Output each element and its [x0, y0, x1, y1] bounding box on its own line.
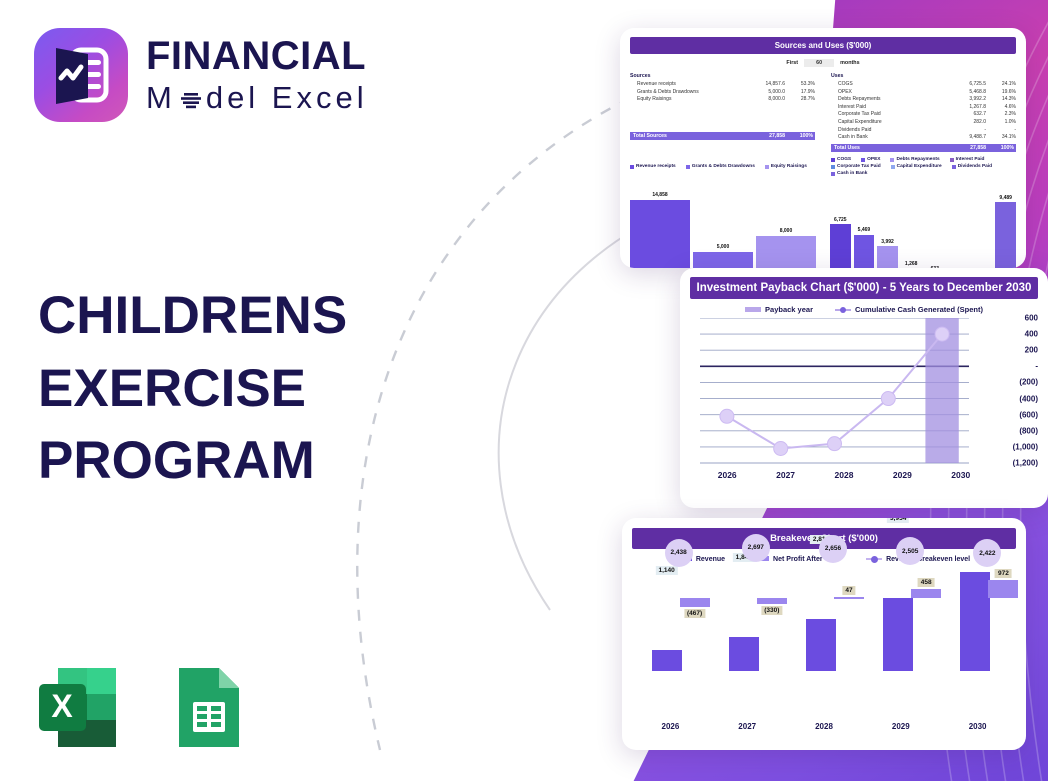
sources-bar-chart: 14,8585,0008,000: [630, 182, 816, 268]
bar: [630, 200, 690, 268]
payback-line-chart: [694, 318, 1014, 466]
legend-item: Debts Repayments: [890, 157, 939, 162]
row-label: Interest Paid: [831, 104, 944, 112]
table-row: Interest Paid1,267.84.6%: [831, 104, 1016, 112]
payback-title: Investment Payback Chart ($'000) - 5 Yea…: [690, 277, 1038, 299]
page-title-line-3: PROGRAM: [38, 425, 418, 498]
row-label: Debts Repayments: [831, 96, 944, 104]
total-uses-label: Total Uses: [831, 144, 944, 153]
legend-item: OPEX: [861, 157, 880, 162]
row-pct: 14.3%: [986, 96, 1016, 104]
legend-label: OPEX: [867, 157, 880, 162]
bar-column: 3,992: [877, 182, 898, 268]
row-pct: -: [986, 127, 1016, 135]
sources-uses-title: Sources and Uses ($'000): [630, 37, 1016, 54]
payback-x-axis: 20262027202820292030: [698, 470, 990, 480]
breakeven-plot-area: 1,140(467)1,848(330)2,814473,9544585,316…: [640, 567, 1008, 702]
bar-column: 8,000: [756, 182, 816, 268]
period-prefix-label: First: [786, 60, 798, 66]
bar-column: 5,469: [854, 182, 875, 268]
row-pct: 53.3%: [785, 81, 815, 89]
y-tick-label: (800): [1019, 426, 1038, 435]
bar: [995, 202, 1016, 268]
y-tick-label: 200: [1025, 346, 1038, 355]
bar-column: 14,858: [630, 182, 690, 268]
legend-item: Capital Expenditure: [891, 164, 942, 169]
legend-item: Cash in Bank: [831, 171, 867, 176]
legend-label: COGS: [837, 157, 851, 162]
period-selector[interactable]: First 60 months: [630, 59, 1016, 67]
row-value: 14,857.6: [743, 81, 785, 89]
row-label: Revenue receipts: [630, 81, 743, 89]
sources-header: Sources: [630, 73, 815, 79]
total-uses-value: 27,858: [944, 144, 986, 153]
bar-value-label: 1,268: [905, 261, 918, 267]
row-value: 5,468.8: [944, 89, 986, 97]
legend-label: Revenue receipts: [636, 164, 676, 169]
y-tick-label: (1,000): [1013, 442, 1038, 451]
breakeven-line: [640, 567, 1026, 702]
bar-column: 0: [972, 182, 993, 268]
legend-item: Interest Paid: [950, 157, 985, 162]
microsoft-excel-icon: X: [30, 660, 125, 755]
row-pct: 2.3%: [986, 111, 1016, 119]
row-label: COGS: [831, 81, 944, 89]
breakeven-value-bubble: 2,505: [896, 537, 924, 565]
bar: [854, 235, 875, 269]
bar-column: 5,000: [693, 182, 753, 268]
brand-subtitle: M del Excel: [146, 79, 368, 118]
x-tick-label: 2029: [892, 722, 910, 731]
payback-plot-area: 600400200-(200)(400)(600)(800)(1,000)(1,…: [694, 318, 1038, 480]
table-row: OPEX5,468.819.6%: [831, 89, 1016, 97]
y-tick-label: (600): [1019, 410, 1038, 419]
legend-cumulative-cash: Cumulative Cash Generated (Spent): [835, 305, 983, 314]
row-label: OPEX: [831, 89, 944, 97]
uses-header: Uses: [831, 73, 1016, 79]
logo-glyph: [34, 28, 128, 122]
row-pct: 1.0%: [986, 119, 1016, 127]
legend-label: Grants & Debts Drawdowns: [692, 164, 755, 169]
total-uses-pct: 100%: [986, 144, 1016, 153]
uses-bar-chart: 6,7255,4693,9921,26863328209,489: [830, 182, 1016, 268]
page-title-line-1: CHILDRENS: [38, 280, 418, 353]
row-value: 5,000.0: [743, 89, 785, 97]
bar-column: 282: [948, 182, 969, 268]
x-tick-label: 2027: [776, 470, 795, 480]
y-tick-label: 600: [1025, 314, 1038, 323]
brand-title: FINANCIAL: [146, 36, 368, 76]
bar-column: 633: [925, 182, 946, 268]
table-row: Equity Raisings8,000.028.7%: [630, 96, 815, 104]
brand-subtitle-post: del Excel: [206, 79, 368, 118]
legend-item: COGS: [831, 157, 851, 162]
revenue-value-label: 3,954: [887, 518, 909, 523]
legend-item: Revenue receipts: [630, 157, 676, 176]
svg-text:X: X: [51, 688, 73, 724]
y-tick-label: -: [1035, 362, 1038, 371]
sources-column: Sources Revenue receipts14,857.653.3%Gra…: [630, 73, 815, 152]
bar-value-label: 8,000: [780, 228, 793, 234]
uses-column: Uses COGS6,725.524.1%OPEX5,468.819.6%Deb…: [831, 73, 1016, 152]
x-tick-label: 2026: [662, 722, 680, 731]
legend-payback-year: Payback year: [745, 305, 813, 314]
bar-stack-icon: [178, 86, 204, 112]
row-label: Grants & Debts Drawdowns: [630, 89, 743, 97]
bar-column: 9,489: [995, 182, 1016, 268]
x-tick-label: 2028: [815, 722, 833, 731]
row-value: 632.7: [944, 111, 986, 119]
x-tick-label: 2029: [893, 470, 912, 480]
period-suffix-label: months: [840, 60, 859, 66]
legend-label: Capital Expenditure: [897, 164, 942, 169]
legend-item: Dividends Paid: [952, 164, 992, 169]
bar: [693, 252, 753, 268]
row-value: 1,267.8: [944, 104, 986, 112]
total-sources-label: Total Sources: [630, 132, 743, 141]
x-tick-label: 2030: [969, 722, 987, 731]
brand-logo: FINANCIAL M del Excel: [34, 28, 368, 122]
table-row: Debts Repayments3,992.214.3%: [831, 96, 1016, 104]
y-tick-label: 400: [1025, 330, 1038, 339]
legend-item: Corporate Tax Paid: [831, 164, 881, 169]
table-row: Cash in Bank9,488.734.1%: [831, 134, 1016, 142]
row-pct: 19.6%: [986, 89, 1016, 97]
google-sheets-icon: [159, 660, 254, 755]
x-tick-label: 2030: [951, 470, 970, 480]
brand-subtitle-pre: M: [146, 79, 176, 118]
x-tick-label: 2026: [718, 470, 737, 480]
breakeven-value-bubble: 2,697: [742, 534, 770, 562]
bar-column: 6,725: [830, 182, 851, 268]
row-value: 6,725.5: [944, 81, 986, 89]
row-label: Corporate Tax Paid: [831, 111, 944, 119]
y-tick-label: (1,200): [1013, 459, 1038, 468]
legend-item: Equity Raisings: [765, 157, 807, 176]
table-row: Dividends Paid--: [831, 127, 1016, 135]
row-value: -: [944, 127, 986, 135]
row-label: Cash in Bank: [831, 134, 944, 142]
row-label: Capital Expenditure: [831, 119, 944, 127]
sources-and-uses-card: Sources and Uses ($'000) First 60 months…: [620, 28, 1026, 268]
breakeven-value-bubble: 2,438: [665, 539, 693, 567]
row-value: 9,488.7: [944, 134, 986, 142]
sources-chart-legend: Revenue receiptsGrants & Debts Drawdowns…: [630, 157, 815, 176]
legend-label: Corporate Tax Paid: [837, 164, 881, 169]
legend-label: Cash in Bank: [837, 171, 867, 176]
table-row: COGS6,725.524.1%: [831, 81, 1016, 89]
breakeven-x-axis: 20262027202820292030: [632, 722, 1016, 731]
x-tick-label: 2027: [738, 722, 756, 731]
row-label: Equity Raisings: [630, 96, 743, 104]
investment-payback-card: Investment Payback Chart ($'000) - 5 Yea…: [680, 268, 1048, 508]
y-tick-label: (200): [1019, 378, 1038, 387]
bar-value-label: 3,992: [881, 239, 894, 245]
breakeven-card: Breakeven Chart ($'000) Revenue Net Prof…: [622, 518, 1026, 750]
total-uses-row: Total Uses 27,858 100%: [831, 144, 1016, 153]
row-pct: 24.1%: [986, 81, 1016, 89]
table-row: Capital Expenditure282.01.0%: [831, 119, 1016, 127]
breakeven-value-bubble: 2,422: [973, 539, 1001, 567]
supported-apps: X: [30, 660, 254, 755]
row-pct: 17.9%: [785, 89, 815, 97]
total-sources-pct: 100%: [785, 132, 815, 141]
financial-model-logo-icon: [34, 28, 128, 122]
row-pct: 34.1%: [986, 134, 1016, 142]
table-row: Corporate Tax Paid632.72.3%: [831, 111, 1016, 119]
table-row: Revenue receipts14,857.653.3%: [630, 81, 815, 89]
payback-y-axis: 600400200-(200)(400)(600)(800)(1,000)(1,…: [994, 318, 1038, 463]
table-row: Grants & Debts Drawdowns5,000.017.9%: [630, 89, 815, 97]
x-tick-label: 2028: [835, 470, 854, 480]
row-value: 8,000.0: [743, 96, 785, 104]
breakeven-value-bubble: 2,656: [819, 535, 847, 563]
page-title-line-2: EXERCISE: [38, 353, 418, 426]
bar-value-label: 9,489: [999, 195, 1012, 201]
legend-label: Equity Raisings: [771, 164, 807, 169]
bar: [877, 246, 898, 268]
row-value: 3,992.2: [944, 96, 986, 104]
payback-legend: Payback year Cumulative Cash Generated (…: [690, 305, 1038, 314]
period-months-input[interactable]: 60: [804, 59, 834, 67]
bar-value-label: 5,000: [717, 244, 730, 250]
total-sources-row: Total Sources 27,858 100%: [630, 132, 815, 141]
y-tick-label: (400): [1019, 394, 1038, 403]
uses-chart-legend: COGSOPEXDebts RepaymentsInterest PaidCor…: [831, 157, 1016, 176]
bar-value-label: 14,858: [652, 192, 667, 198]
bar-column: 1,268: [901, 182, 922, 268]
bar-value-label: 5,469: [858, 227, 871, 233]
row-pct: 4.6%: [986, 104, 1016, 112]
bar-value-label: 6,725: [834, 217, 847, 223]
legend-item: Grants & Debts Drawdowns: [686, 157, 755, 176]
bar: [756, 236, 816, 268]
legend-label: Interest Paid: [956, 157, 985, 162]
row-label: Dividends Paid: [831, 127, 944, 135]
legend-label: Dividends Paid: [958, 164, 992, 169]
row-value: 282.0: [944, 119, 986, 127]
legend-label: Debts Repayments: [896, 157, 939, 162]
row-pct: 28.7%: [785, 96, 815, 104]
total-sources-value: 27,858: [743, 132, 785, 141]
bar: [830, 224, 851, 268]
page-title: CHILDRENS EXERCISE PROGRAM: [38, 280, 418, 498]
